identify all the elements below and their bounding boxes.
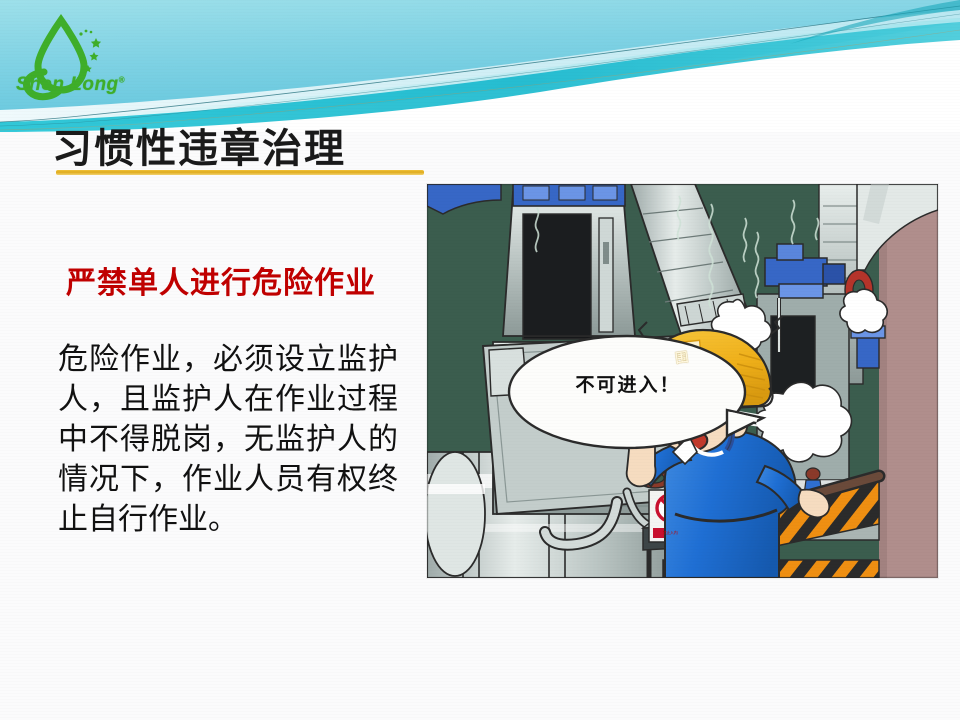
title-underline-rule [56, 170, 424, 175]
helmet-label-text: 围 [674, 346, 690, 367]
warning-sign-text: 禁止入内 [655, 530, 685, 536]
slide-canvas: Shen Long® 习惯性违章治理 严禁单人进行危险作业 危险作业，必须设立监… [0, 0, 960, 720]
warning-heading: 严禁单人进行危险作业 [66, 258, 408, 302]
trademark-symbol: ® [119, 76, 125, 85]
brand-name-text: Shen Long [16, 74, 119, 95]
page-title: 习惯性违章治理 [52, 116, 346, 174]
body-paragraph: 危险作业，必须设立监护人，且监护人在作业过程中不得脱岗，无监护人的情况下，作业人… [58, 340, 398, 539]
illustration-industrial-plant-cartoon: 不可进入！ 围 禁止入内 [427, 184, 938, 578]
brand-name: Shen Long® [16, 74, 116, 100]
header-wave-banner [0, 0, 960, 132]
text-column: 严禁单人进行危险作业 危险作业，必须设立监护人，且监护人在作业过程中不得脱岗，无… [58, 258, 408, 539]
